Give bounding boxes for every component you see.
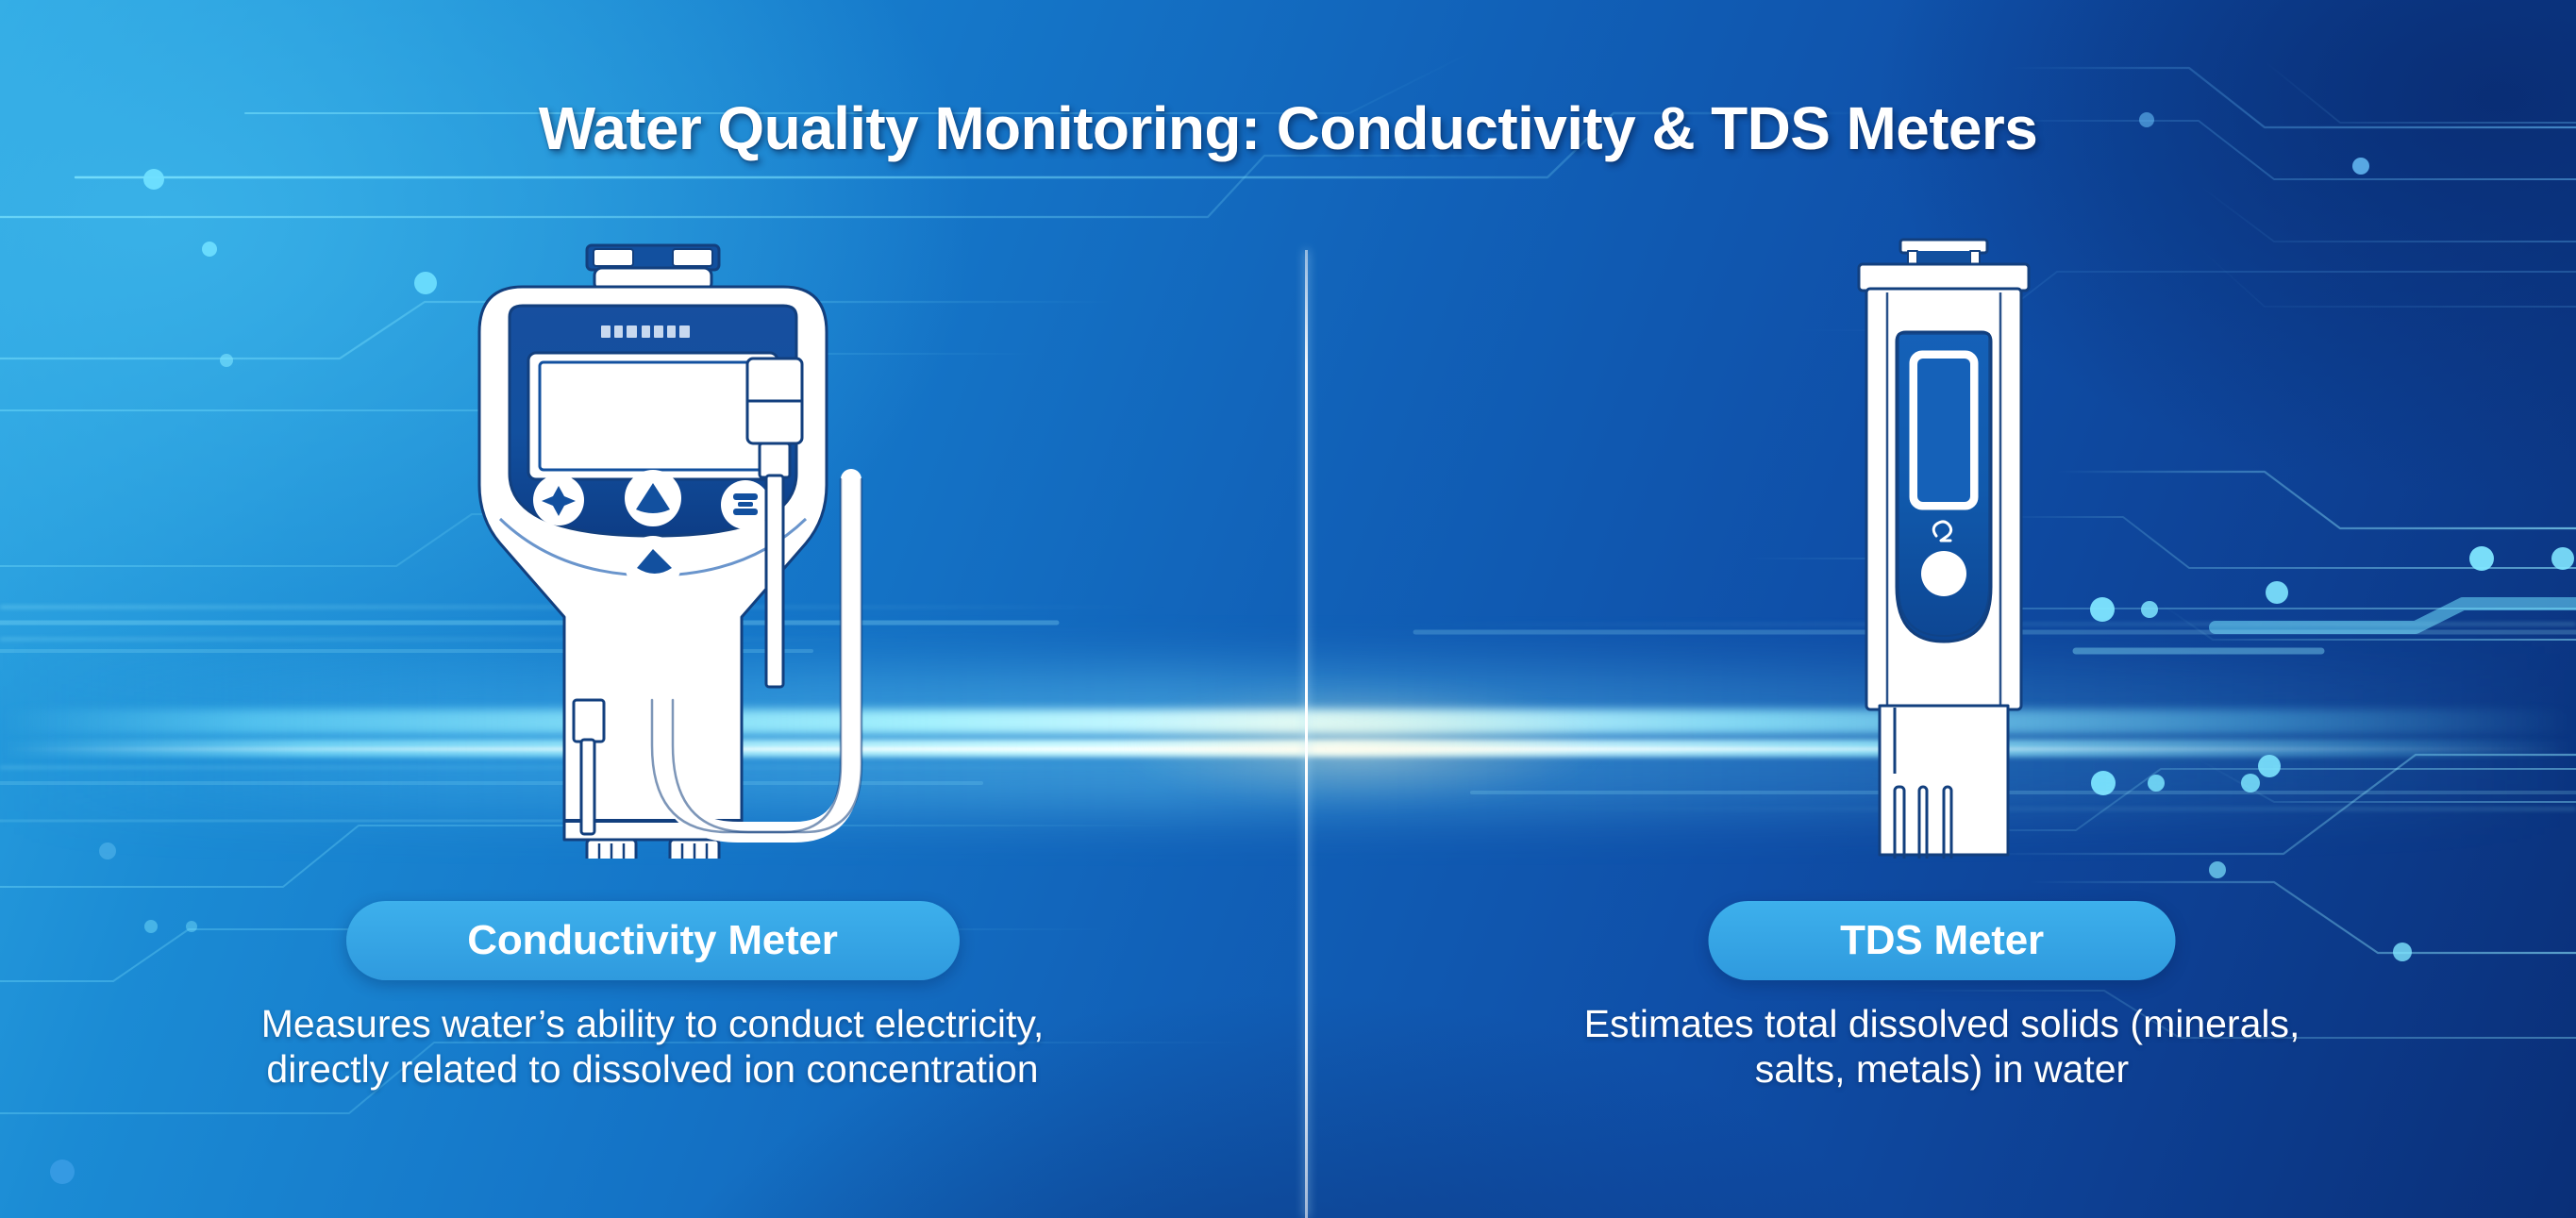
probe-and-cable-svg — [351, 236, 955, 896]
conductivity-meter-illustration — [0, 236, 1305, 877]
probe-connector — [760, 443, 790, 477]
label-text-conductivity: Conductivity Meter — [467, 917, 837, 964]
panel-conductivity: Conductivity Meter Measures water’s abil… — [0, 0, 1305, 1218]
panel-tds: TDS Meter Estimates total dissolved soli… — [1308, 0, 2576, 1218]
probe-shaft — [766, 476, 783, 687]
tds-meter-illustration — [1308, 236, 2576, 877]
description-conductivity: Measures water’s ability to conduct elec… — [228, 1002, 1078, 1093]
probe-cable — [662, 479, 851, 832]
lcd-screen — [1917, 359, 1970, 502]
cap-top-plate — [1859, 264, 2029, 291]
infographic-canvas: Water Quality Monitoring: Conductivity &… — [0, 0, 2576, 1218]
power-button — [1921, 551, 1966, 596]
left-probe-tip — [574, 700, 604, 742]
description-tds: Estimates total dissolved solids (minera… — [1550, 1002, 2333, 1093]
label-pill-tds: TDS Meter — [1709, 901, 2176, 980]
tds-meter-svg — [1800, 236, 2083, 859]
label-text-tds: TDS Meter — [1840, 917, 2044, 964]
left-probe-shaft — [581, 740, 594, 834]
label-pill-conductivity: Conductivity Meter — [346, 901, 960, 980]
